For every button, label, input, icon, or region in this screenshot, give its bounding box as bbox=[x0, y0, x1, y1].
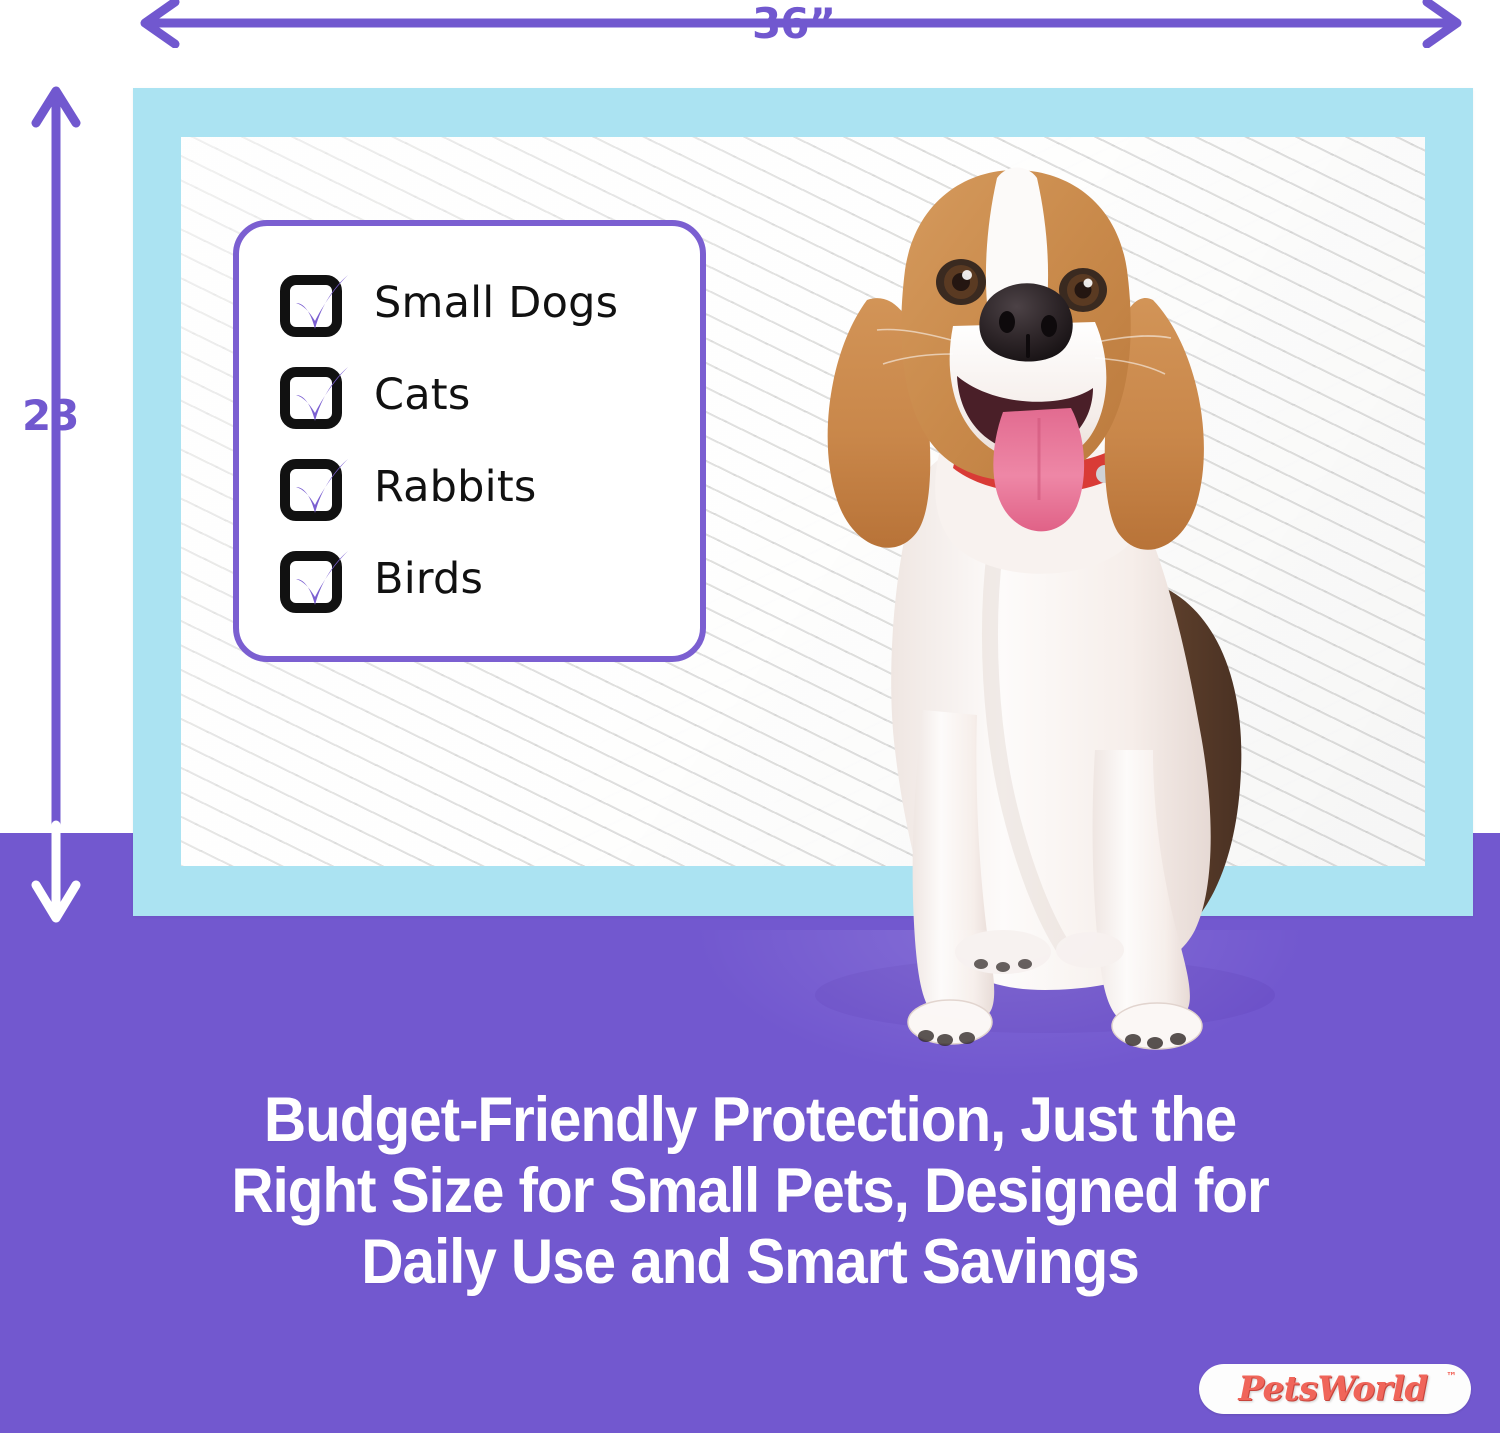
height-dimension-label: 23 bbox=[22, 395, 78, 437]
height-dimension-arrow bbox=[30, 85, 82, 925]
list-item-label: Birds bbox=[374, 554, 483, 604]
tagline-line-1: Budget-Friendly Protection, Just the bbox=[136, 1085, 1364, 1156]
tagline-line-3: Daily Use and Smart Savings bbox=[136, 1227, 1364, 1298]
product-marketing-image: Small Dogs Cats Rabbits bbox=[0, 0, 1500, 1433]
checked-checkbox-icon[interactable] bbox=[284, 367, 340, 423]
checked-checkbox-icon[interactable] bbox=[284, 275, 340, 331]
list-item-label: Cats bbox=[374, 370, 470, 420]
checked-checkbox-icon[interactable] bbox=[284, 551, 340, 607]
list-item[interactable]: Rabbits bbox=[239, 441, 700, 533]
trademark-symbol: ™ bbox=[1446, 1370, 1457, 1383]
width-dimension-label: 36” bbox=[752, 3, 835, 45]
brand-logo: PetsWorld ™ bbox=[1199, 1364, 1471, 1414]
list-item-label: Small Dogs bbox=[374, 278, 618, 328]
brand-name: PetsWorld bbox=[1238, 1369, 1431, 1409]
list-item[interactable]: Birds bbox=[239, 533, 700, 625]
compatible-pets-checklist: Small Dogs Cats Rabbits bbox=[233, 220, 706, 662]
list-item[interactable]: Small Dogs bbox=[239, 257, 700, 349]
beagle-dog-photo bbox=[745, 150, 1290, 1050]
tagline-line-2: Right Size for Small Pets, Designed for bbox=[136, 1156, 1364, 1227]
tagline: Budget-Friendly Protection, Just the Rig… bbox=[136, 1085, 1364, 1299]
list-item-label: Rabbits bbox=[374, 462, 536, 512]
list-item[interactable]: Cats bbox=[239, 349, 700, 441]
checked-checkbox-icon[interactable] bbox=[284, 459, 340, 515]
